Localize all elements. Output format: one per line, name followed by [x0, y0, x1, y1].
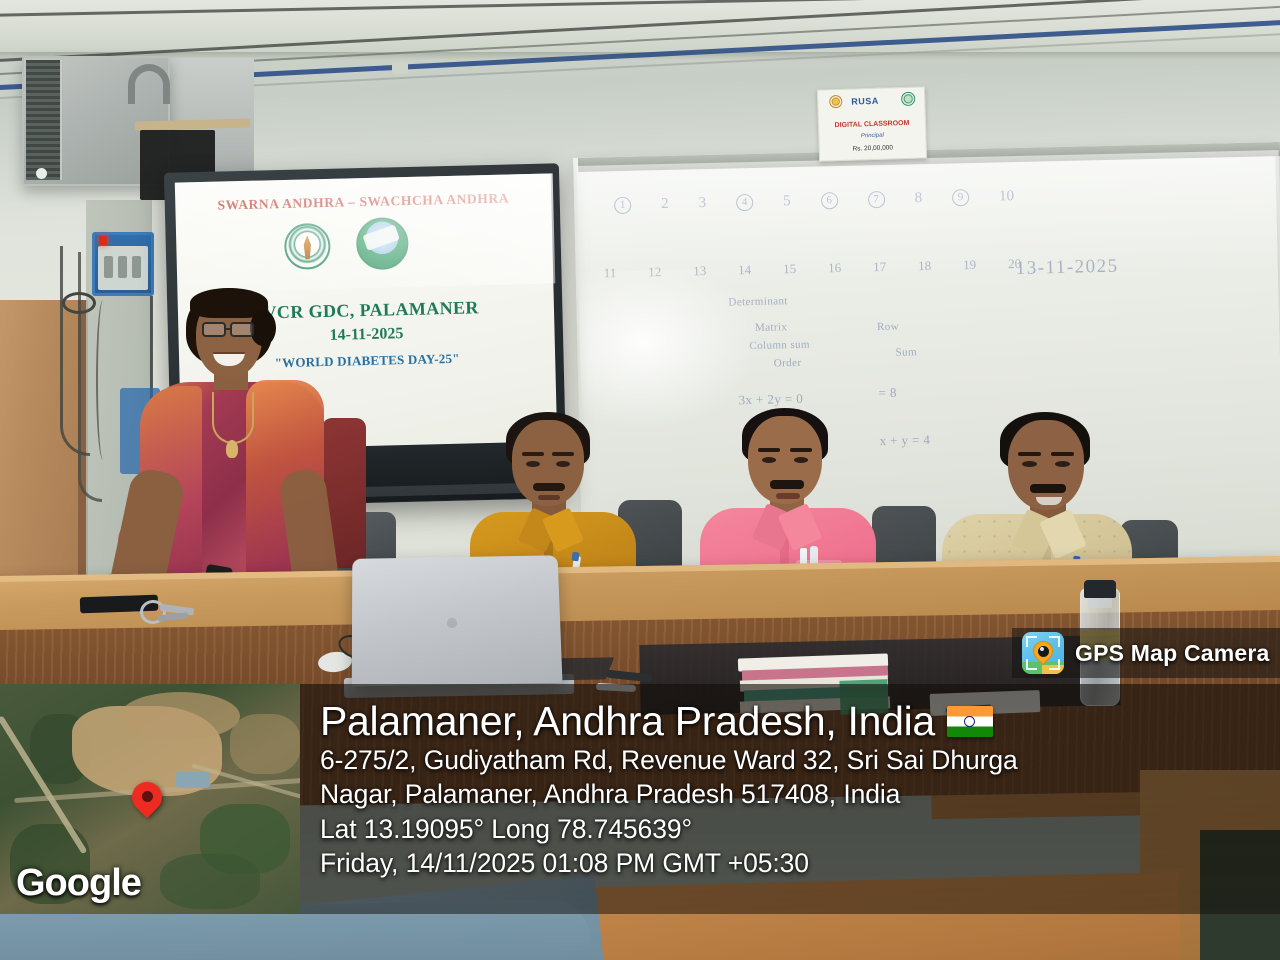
laptop-logo-icon	[440, 612, 464, 634]
viewfinder-corner-icon	[1026, 659, 1037, 670]
eyebrow-right	[552, 452, 574, 456]
eye-right	[1055, 461, 1070, 467]
pen-cap	[571, 552, 579, 562]
power-indicator-led	[99, 236, 107, 245]
moustache	[770, 480, 804, 489]
mouth	[1036, 497, 1062, 505]
wb-note: Matrix	[755, 321, 788, 334]
eyebrow-left	[1018, 452, 1041, 456]
eyebrow-right	[790, 448, 812, 452]
notice-reference: Rs. 20,00,000	[819, 142, 927, 155]
address-line-2: Nagar, Palamaner, Andhra Pradesh 517408,…	[320, 777, 1260, 811]
vent-grill	[26, 60, 62, 180]
geotag-text-block: Palamaner, Andhra Pradesh, India 6-275/2…	[320, 700, 1260, 881]
ashoka-chakra-icon	[964, 716, 975, 727]
moustache	[1030, 484, 1066, 493]
mouth	[538, 495, 560, 500]
mouth	[776, 493, 800, 499]
lens-glint	[1040, 647, 1044, 651]
eyeglasses-bridge	[226, 328, 232, 330]
eyeglasses-lens-left-icon	[202, 322, 226, 337]
coordinates: Lat 13.19095° Long 78.745639°	[320, 812, 1260, 846]
wall-notice-content: RUSA DIGITAL CLASSROOM Principal Rs. 20,…	[817, 86, 927, 161]
eye-left	[526, 461, 540, 467]
eyeglasses-lens-right-icon	[230, 322, 254, 337]
wb-equation: = 8	[878, 385, 897, 401]
power-socket[interactable]	[118, 256, 127, 278]
gps-map-camera-label: GPS Map Camera	[1075, 640, 1270, 667]
india-flag-icon	[947, 706, 993, 737]
gps-map-camera-watermark: GPS Map Camera	[1012, 628, 1280, 678]
map-pin-center	[142, 791, 153, 802]
google-attribution: Google	[16, 862, 141, 905]
moustache	[533, 483, 565, 491]
whiteboard-glare	[578, 268, 762, 432]
power-socket[interactable]	[132, 256, 141, 278]
wb-note: Sum	[895, 346, 917, 358]
notice-logo-left-icon	[829, 95, 842, 108]
bottle-cap	[1084, 580, 1116, 598]
vent-knob	[36, 168, 47, 179]
viewfinder-corner-icon	[1026, 636, 1037, 647]
wb-note: Row	[877, 321, 899, 333]
location-title-row: Palamaner, Andhra Pradesh, India	[320, 700, 1260, 743]
eyebrow-left	[758, 448, 780, 452]
map-open-ground	[120, 692, 240, 740]
wire-loop	[62, 292, 96, 314]
eyebrow-left	[522, 452, 544, 456]
hanging-wire	[96, 300, 110, 460]
viewfinder-corner-icon	[1049, 636, 1060, 647]
timestamp: Friday, 14/11/2025 01:08 PM GMT +05:30	[320, 846, 1260, 880]
notice-signature: Principal	[818, 130, 926, 142]
map-vegetation	[160, 854, 260, 909]
eye-right	[556, 461, 570, 467]
address-line-1: 6-275/2, Gudiyatham Rd, Revenue Ward 32,…	[320, 743, 1260, 777]
photo-canvas: 1 2 3 4 5 6 7 8 9 10 11 12 13 14 15 16 1…	[0, 0, 1280, 960]
eye-left	[762, 457, 776, 463]
duct-pipe	[128, 64, 170, 104]
face	[512, 420, 584, 506]
necklace	[212, 392, 254, 444]
map-thumbnail[interactable]: Google	[0, 684, 300, 914]
gps-map-camera-app-icon	[1022, 632, 1064, 674]
map-building	[176, 772, 210, 788]
wb-note: Order	[774, 357, 802, 370]
eye-left	[1022, 461, 1037, 467]
slide-headline: SWARNA ANDHRA – SWACHCHA ANDHRA	[175, 189, 551, 214]
pendant	[226, 440, 238, 458]
notice-logo-right-icon	[901, 92, 915, 106]
eyebrow-right	[1051, 452, 1074, 456]
map-open-ground	[230, 714, 300, 774]
cable-clip	[392, 62, 408, 74]
wb-equation: x + y = 4	[879, 432, 930, 449]
whiteboard-glare	[577, 150, 1280, 286]
face	[748, 416, 822, 504]
notice-program-label: RUSA	[851, 95, 879, 109]
power-socket[interactable]	[104, 256, 113, 278]
viewfinder-corner-icon	[1049, 659, 1060, 670]
location-title: Palamaner, Andhra Pradesh, India	[320, 700, 935, 743]
eye-right	[794, 457, 808, 463]
